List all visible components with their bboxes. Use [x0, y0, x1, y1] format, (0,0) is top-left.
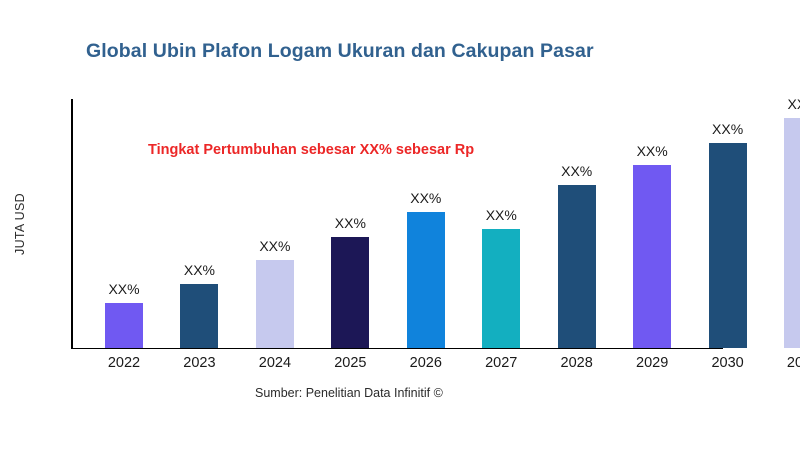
- x-axis-tick-2031: 2031: [768, 355, 800, 371]
- bar-value-label-2031: XX%: [768, 96, 800, 112]
- bar-2022[interactable]: [105, 303, 143, 348]
- bar-value-label-2025: XX%: [315, 215, 385, 231]
- bar-value-label-2026: XX%: [391, 190, 461, 206]
- bar-2027[interactable]: [482, 229, 520, 348]
- bar-2023[interactable]: [180, 284, 218, 348]
- bar-2026[interactable]: [407, 212, 445, 348]
- x-axis-tick-2030: 2030: [693, 355, 763, 371]
- bar-value-label-2027: XX%: [466, 207, 536, 223]
- bar-2024[interactable]: [256, 260, 294, 348]
- bar-value-label-2028: XX%: [542, 163, 612, 179]
- x-axis-tick-2023: 2023: [164, 355, 234, 371]
- x-axis-tick-2024: 2024: [240, 355, 310, 371]
- bar-2025[interactable]: [331, 237, 369, 348]
- bar-value-label-2029: XX%: [617, 143, 687, 159]
- bar-value-label-2022: XX%: [89, 281, 159, 297]
- bar-chart: Global Ubin Plafon Logam Ukuran dan Caku…: [0, 0, 800, 450]
- x-axis-tick-2022: 2022: [89, 355, 159, 371]
- bar-value-label-2023: XX%: [164, 262, 234, 278]
- bar-2029[interactable]: [633, 165, 671, 348]
- bar-2028[interactable]: [558, 185, 596, 348]
- x-axis-tick-2027: 2027: [466, 355, 536, 371]
- bar-2031[interactable]: [784, 118, 800, 348]
- x-axis-tick-2028: 2028: [542, 355, 612, 371]
- bar-2030[interactable]: [709, 143, 747, 348]
- x-axis-tick-2029: 2029: [617, 355, 687, 371]
- source-caption: Sumber: Penelitian Data Infinitif ©: [255, 386, 443, 400]
- bar-value-label-2030: XX%: [693, 121, 763, 137]
- x-axis-tick-2026: 2026: [391, 355, 461, 371]
- plot-area: XX%2022XX%2023XX%2024XX%2025XX%2026XX%20…: [0, 0, 800, 450]
- x-axis-tick-2025: 2025: [315, 355, 385, 371]
- bar-value-label-2024: XX%: [240, 238, 310, 254]
